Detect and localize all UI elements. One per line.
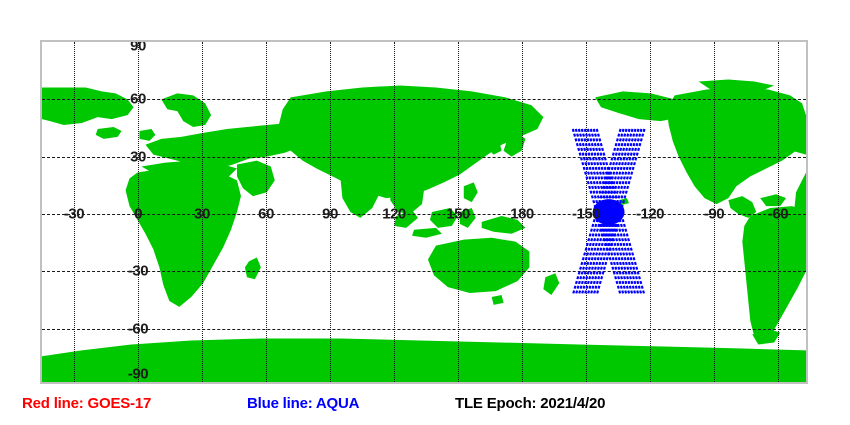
southeast-asia [390, 182, 424, 214]
antarctica [42, 339, 806, 382]
philippines [464, 182, 478, 202]
world-map: -300306090120150180-150-120-90-609060300… [40, 40, 808, 384]
legend-red-line: Red line: GOES-17 [22, 395, 151, 412]
australia [428, 238, 529, 293]
legend-bar: Red line: GOES-17 Blue line: AQUA TLE Ep… [0, 395, 850, 425]
hawaii [619, 198, 629, 205]
sulawesi [460, 208, 476, 228]
continents [42, 80, 806, 382]
borneo [430, 208, 458, 228]
legend-tle-epoch: TLE Epoch: 2021/4/20 [455, 395, 605, 412]
asia [279, 85, 544, 198]
caribbean [760, 194, 786, 206]
landmass-layer [42, 42, 806, 382]
india [340, 174, 380, 217]
british-isles [139, 129, 155, 141]
arabia [237, 161, 275, 197]
map-canvas: -300306090120150180-150-120-90-609060300… [42, 42, 806, 382]
south-america [742, 206, 806, 344]
legend-blue-line: Blue line: AQUA [247, 395, 359, 412]
new-zealand [543, 273, 559, 295]
new-guinea [482, 216, 526, 234]
java [412, 228, 442, 238]
iceland [96, 127, 122, 139]
north-america [667, 87, 806, 204]
greenland-west [42, 87, 134, 125]
madagascar [245, 257, 261, 279]
africa [126, 169, 241, 307]
sumatra [394, 210, 418, 228]
tasmania [492, 295, 504, 305]
scandinavia [161, 93, 211, 127]
central-america [728, 196, 756, 218]
